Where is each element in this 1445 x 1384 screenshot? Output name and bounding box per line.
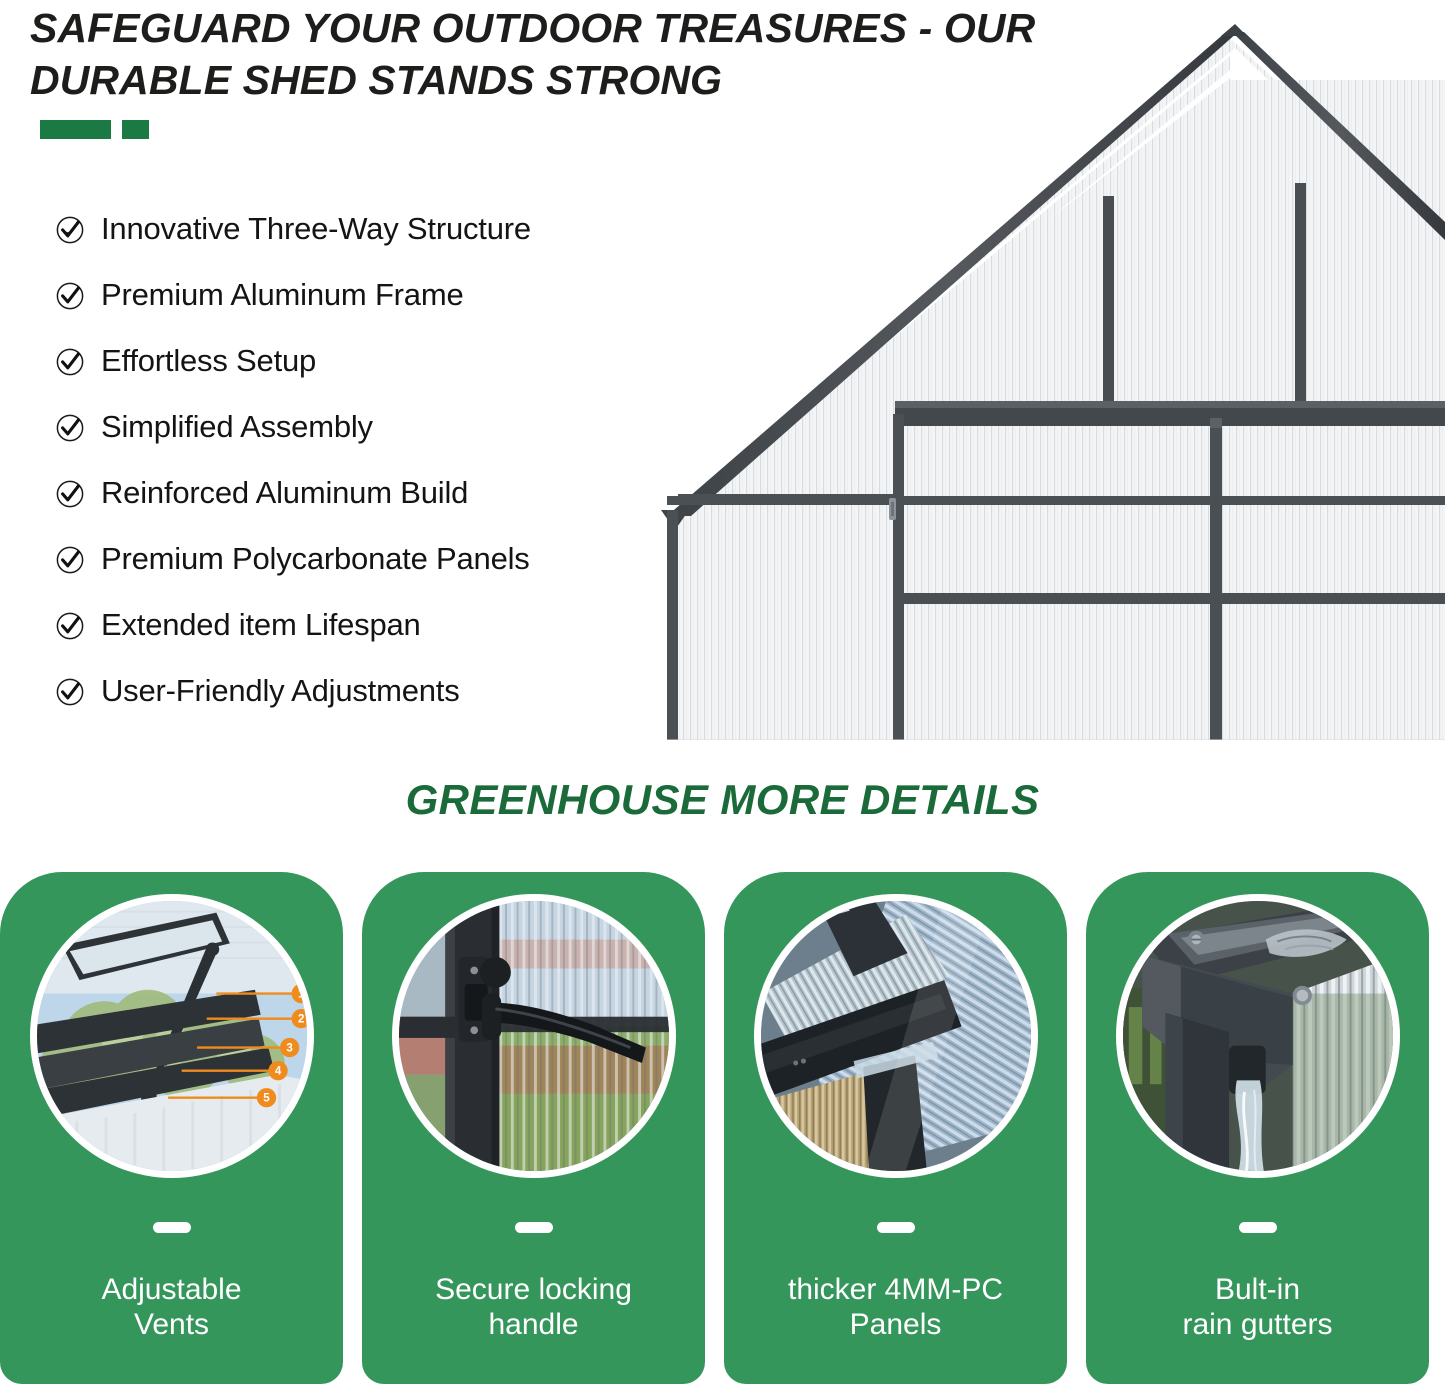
svg-text:5: 5: [263, 1093, 270, 1105]
list-item: Reinforced Aluminum Build: [55, 460, 705, 526]
caption-line-2: rain gutters: [1100, 1307, 1415, 1342]
caption-line-2: Vents: [14, 1307, 329, 1342]
detail-card-secure-locking-handle[interactable]: Secure locking handle: [362, 872, 705, 1384]
caption-line-1: Secure locking: [376, 1272, 691, 1307]
list-item: Extended item Lifespan: [55, 592, 705, 658]
feature-label: Reinforced Aluminum Build: [101, 475, 468, 511]
card-divider-pill: [1239, 1222, 1277, 1233]
list-item: Premium Polycarbonate Panels: [55, 526, 705, 592]
list-item: Premium Aluminum Frame: [55, 262, 705, 328]
caption-line-1: thicker 4MM-PC: [738, 1272, 1053, 1307]
feature-label: Premium Polycarbonate Panels: [101, 541, 530, 577]
check-circle-icon: [55, 281, 85, 311]
photo-ring: [1116, 894, 1400, 1178]
check-circle-icon: [55, 677, 85, 707]
caption-line-2: handle: [376, 1307, 691, 1342]
locking-handle-photo: [399, 901, 669, 1171]
hero-section: SAFEGUARD YOUR OUTDOOR TREASURES - OUR D…: [0, 0, 1445, 760]
photo-ring: [392, 894, 676, 1178]
detail-card-rain-gutters[interactable]: Bult-in rain gutters: [1086, 872, 1429, 1384]
feature-label: Extended item Lifespan: [101, 607, 421, 643]
caption-line-2: Panels: [738, 1307, 1053, 1342]
card-divider-pill: [877, 1222, 915, 1233]
feature-label: Simplified Assembly: [101, 409, 373, 445]
greenhouse-shed-illustration: [655, 18, 1445, 740]
feature-list: Innovative Three-Way Structure Premium A…: [55, 196, 705, 724]
section-heading-greenhouse-details: GREENHOUSE MORE DETAILS: [0, 776, 1445, 824]
photo-ring: 12 34 5: [30, 894, 314, 1178]
detail-cards-row: 12 34 5 Adjustable Vents: [0, 872, 1445, 1384]
svg-text:2: 2: [297, 1014, 303, 1026]
list-item: Simplified Assembly: [55, 394, 705, 460]
accent-bar-narrow: [122, 120, 149, 139]
detail-card-polycarbonate-panels[interactable]: thicker 4MM-PC Panels: [724, 872, 1067, 1384]
list-item: User-Friendly Adjustments: [55, 658, 705, 724]
svg-text:1: 1: [297, 988, 304, 1000]
adjustable-vent-photo: 12 34 5: [37, 901, 307, 1171]
card-caption: Secure locking handle: [362, 1272, 705, 1343]
feature-label: Premium Aluminum Frame: [101, 277, 464, 313]
caption-line-1: Adjustable: [14, 1272, 329, 1307]
rain-gutter-photo: [1123, 901, 1393, 1171]
page-headline: SAFEGUARD YOUR OUTDOOR TREASURES - OUR D…: [30, 2, 1210, 107]
list-item: Effortless Setup: [55, 328, 705, 394]
list-item: Innovative Three-Way Structure: [55, 196, 705, 262]
feature-label: Innovative Three-Way Structure: [101, 211, 531, 247]
check-circle-icon: [55, 479, 85, 509]
accent-bar-wide: [40, 120, 111, 139]
card-caption: Bult-in rain gutters: [1086, 1272, 1429, 1343]
card-divider-pill: [515, 1222, 553, 1233]
detail-card-adjustable-vents[interactable]: 12 34 5 Adjustable Vents: [0, 872, 343, 1384]
svg-text:3: 3: [286, 1042, 293, 1054]
polycarbonate-panel-photo: [761, 901, 1031, 1171]
check-circle-icon: [55, 215, 85, 245]
check-circle-icon: [55, 545, 85, 575]
accent-bar-group: [40, 120, 149, 139]
card-divider-pill: [153, 1222, 191, 1233]
photo-ring: [754, 894, 1038, 1178]
feature-label: User-Friendly Adjustments: [101, 673, 460, 709]
check-circle-icon: [55, 347, 85, 377]
card-caption: thicker 4MM-PC Panels: [724, 1272, 1067, 1343]
caption-line-1: Bult-in: [1100, 1272, 1415, 1307]
card-caption: Adjustable Vents: [0, 1272, 343, 1343]
check-circle-icon: [55, 413, 85, 443]
check-circle-icon: [55, 611, 85, 641]
svg-text:4: 4: [274, 1066, 281, 1078]
feature-label: Effortless Setup: [101, 343, 316, 379]
